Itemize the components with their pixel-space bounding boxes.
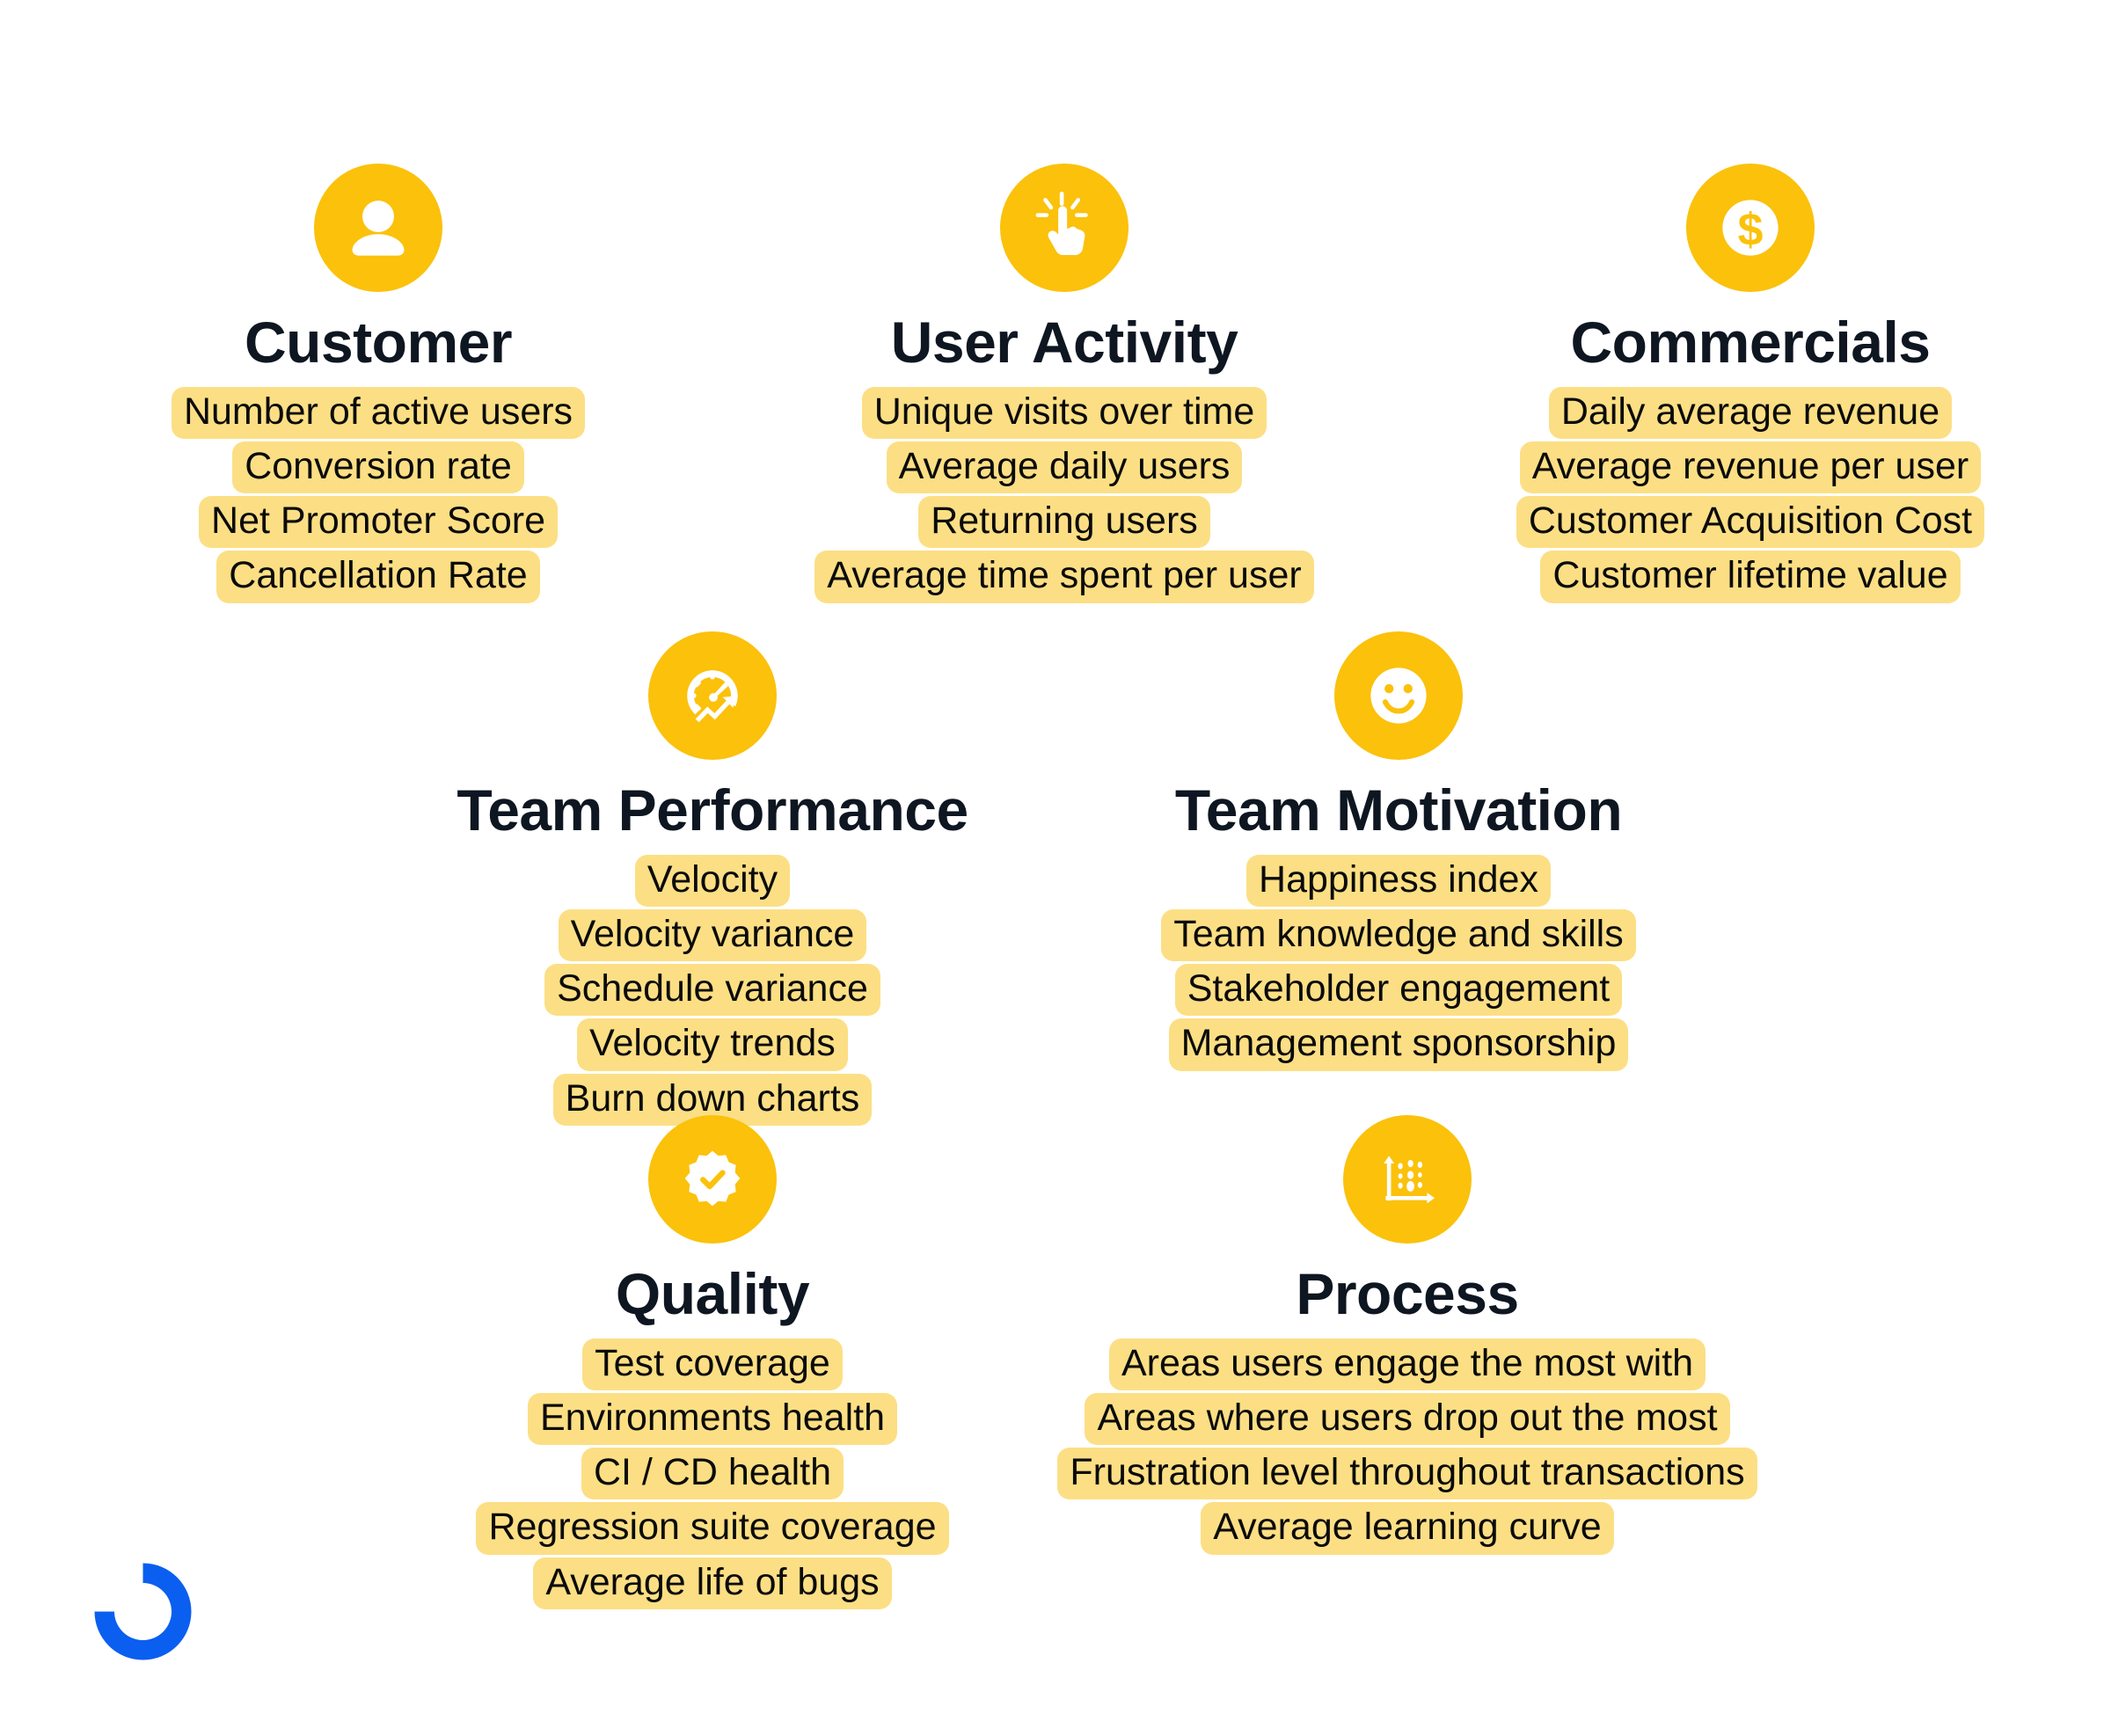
category-process: Process Areas users engage the most with… bbox=[1020, 1115, 1794, 1555]
category-title: Commercials bbox=[1570, 313, 1930, 371]
category-metric-list: Areas users engage the most with Areas w… bbox=[1057, 1338, 1757, 1555]
scatter-chart-icon bbox=[1343, 1115, 1472, 1244]
metric-item: Average time spent per user bbox=[814, 551, 1313, 602]
metric-item: Net Promoter Score bbox=[199, 496, 558, 548]
metric-item: Happiness index bbox=[1246, 855, 1551, 907]
metric-item: Management sponsorship bbox=[1169, 1018, 1629, 1070]
dollar-coin-icon: $ bbox=[1686, 164, 1815, 292]
metric-item: Daily average revenue bbox=[1549, 387, 1952, 439]
metric-item: Schedule variance bbox=[544, 964, 880, 1016]
metric-item: Number of active users bbox=[172, 387, 585, 439]
person-icon bbox=[314, 164, 442, 292]
metric-item: Customer lifetime value bbox=[1540, 551, 1960, 602]
category-metric-list: Test coverage Environments health CI / C… bbox=[476, 1338, 948, 1609]
metric-item: Environments health bbox=[528, 1393, 897, 1445]
metric-item: Stakeholder engagement bbox=[1175, 964, 1623, 1016]
category-customer: Customer Number of active users Conversi… bbox=[106, 164, 651, 603]
category-title: Team Performance bbox=[457, 781, 968, 839]
metric-item: Team knowledge and skills bbox=[1161, 909, 1636, 961]
category-title: Process bbox=[1296, 1265, 1518, 1323]
infographic-canvas: Customer Number of active users Conversi… bbox=[0, 0, 2111, 1736]
metric-item: Regression suite coverage bbox=[476, 1502, 948, 1554]
metric-item: Returning users bbox=[918, 496, 1210, 548]
badge-check-icon bbox=[648, 1115, 777, 1244]
category-title: Team Motivation bbox=[1175, 781, 1622, 839]
category-title: Customer bbox=[245, 313, 512, 371]
metric-item: Velocity trends bbox=[577, 1018, 848, 1070]
metric-item: Average revenue per user bbox=[1520, 441, 1981, 493]
category-metric-list: Number of active users Conversion rate N… bbox=[172, 387, 585, 603]
svg-text:$: $ bbox=[1738, 203, 1764, 254]
category-commercials: $ Commercials Daily average revenue Aver… bbox=[1478, 164, 2023, 603]
metric-item: Unique visits over time bbox=[862, 387, 1267, 439]
metric-item: Test coverage bbox=[582, 1338, 843, 1390]
category-user-activity: User Activity Unique visits over time Av… bbox=[792, 164, 1337, 603]
tap-click-hand-icon bbox=[1000, 164, 1129, 292]
metric-item: Velocity variance bbox=[559, 909, 867, 961]
category-metric-list: Velocity Velocity variance Schedule vari… bbox=[544, 855, 880, 1126]
metric-item: Conversion rate bbox=[232, 441, 524, 493]
category-metric-list: Happiness index Team knowledge and skill… bbox=[1161, 855, 1636, 1071]
speedometer-trend-icon bbox=[648, 631, 777, 760]
category-title: Quality bbox=[616, 1265, 809, 1323]
smiley-face-icon bbox=[1334, 631, 1463, 760]
metric-item: Cancellation Rate bbox=[216, 551, 539, 602]
category-team-motivation: Team Motivation Happiness index Team kno… bbox=[1126, 631, 1671, 1071]
category-team-performance: Team Performance Velocity Velocity varia… bbox=[440, 631, 985, 1126]
metric-item: Average learning curve bbox=[1201, 1502, 1613, 1554]
metric-item: Average life of bugs bbox=[533, 1557, 891, 1609]
category-metric-list: Unique visits over time Average daily us… bbox=[814, 387, 1313, 603]
metric-item: Customer Acquisition Cost bbox=[1516, 496, 1984, 548]
category-quality: Quality Test coverage Environments healt… bbox=[440, 1115, 985, 1609]
open-ring-logo-icon bbox=[88, 1557, 198, 1667]
metric-item: CI / CD health bbox=[581, 1448, 844, 1499]
metric-item: Average daily users bbox=[887, 441, 1243, 493]
metric-item: Frustration level throughout transaction… bbox=[1057, 1448, 1757, 1499]
category-metric-list: Daily average revenue Average revenue pe… bbox=[1516, 387, 1984, 603]
metric-item: Areas users engage the most with bbox=[1109, 1338, 1706, 1390]
category-title: User Activity bbox=[891, 313, 1238, 371]
metric-item: Areas where users drop out the most bbox=[1085, 1393, 1729, 1445]
metric-item: Velocity bbox=[635, 855, 790, 907]
